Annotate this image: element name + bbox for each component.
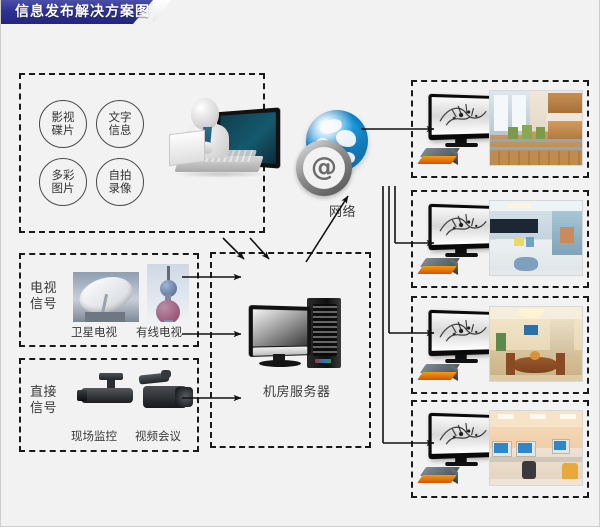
circle-color-picture-line2: 图片 bbox=[52, 182, 75, 195]
person-with-laptop-icon bbox=[169, 98, 279, 180]
circle-selfie-video-line2: 录像 bbox=[109, 182, 132, 195]
satellite-dish-icon bbox=[73, 272, 139, 322]
set-top-box-2-icon bbox=[423, 258, 457, 275]
camcorder-icon bbox=[135, 370, 197, 416]
circle-color-picture[interactable]: 多彩 图片 bbox=[39, 158, 87, 206]
scene-modern-living-room bbox=[489, 200, 583, 276]
cctv-camera-icon bbox=[77, 372, 137, 416]
circle-selfie-video[interactable]: 自拍 录像 bbox=[96, 158, 144, 206]
circle-text-info[interactable]: 文字 信息 bbox=[96, 100, 144, 148]
tv-signal-label-line2: 信号 bbox=[30, 297, 57, 312]
scene-office-internet-cafe bbox=[489, 410, 583, 486]
banner-tail-shape bbox=[153, 0, 183, 24]
scene-warm-dining-room bbox=[489, 306, 583, 382]
direct-signal-label-line1: 直接 bbox=[30, 385, 57, 400]
at-sign-icon bbox=[296, 140, 352, 196]
direct-signal-label-line2: 信号 bbox=[30, 401, 57, 416]
tv-signal-label-line1: 电视 bbox=[30, 281, 57, 296]
site-monitoring-caption: 现场监控 bbox=[71, 429, 117, 443]
server-computer-icon bbox=[247, 296, 347, 372]
set-top-box-4-icon bbox=[423, 467, 457, 484]
circle-video-disc[interactable]: 影视 碟片 bbox=[39, 100, 87, 148]
satellite-tv-caption: 卫星电视 bbox=[71, 325, 117, 339]
set-top-box-1-icon bbox=[423, 148, 457, 165]
page-title: 信息发布解决方案图 bbox=[15, 3, 150, 21]
circle-text-info-line2: 信息 bbox=[109, 124, 132, 137]
cable-tv-caption: 有线电视 bbox=[136, 325, 182, 339]
diagram-canvas: 信息发布解决方案图 影视 碟片 文字 信息 多彩 图片 自拍 录像 电视 信号 … bbox=[0, 0, 600, 527]
pearl-tower-icon bbox=[147, 264, 189, 322]
video-conference-caption: 视频会议 bbox=[135, 429, 181, 443]
network-caption: 网络 bbox=[329, 205, 356, 220]
set-top-box-3-icon bbox=[423, 364, 457, 381]
title-banner: 信息发布解决方案图 bbox=[1, 0, 153, 24]
scene-kitchen-dining-room bbox=[489, 90, 583, 166]
server-caption: 机房服务器 bbox=[263, 385, 331, 400]
circle-video-disc-line2: 碟片 bbox=[52, 124, 75, 137]
